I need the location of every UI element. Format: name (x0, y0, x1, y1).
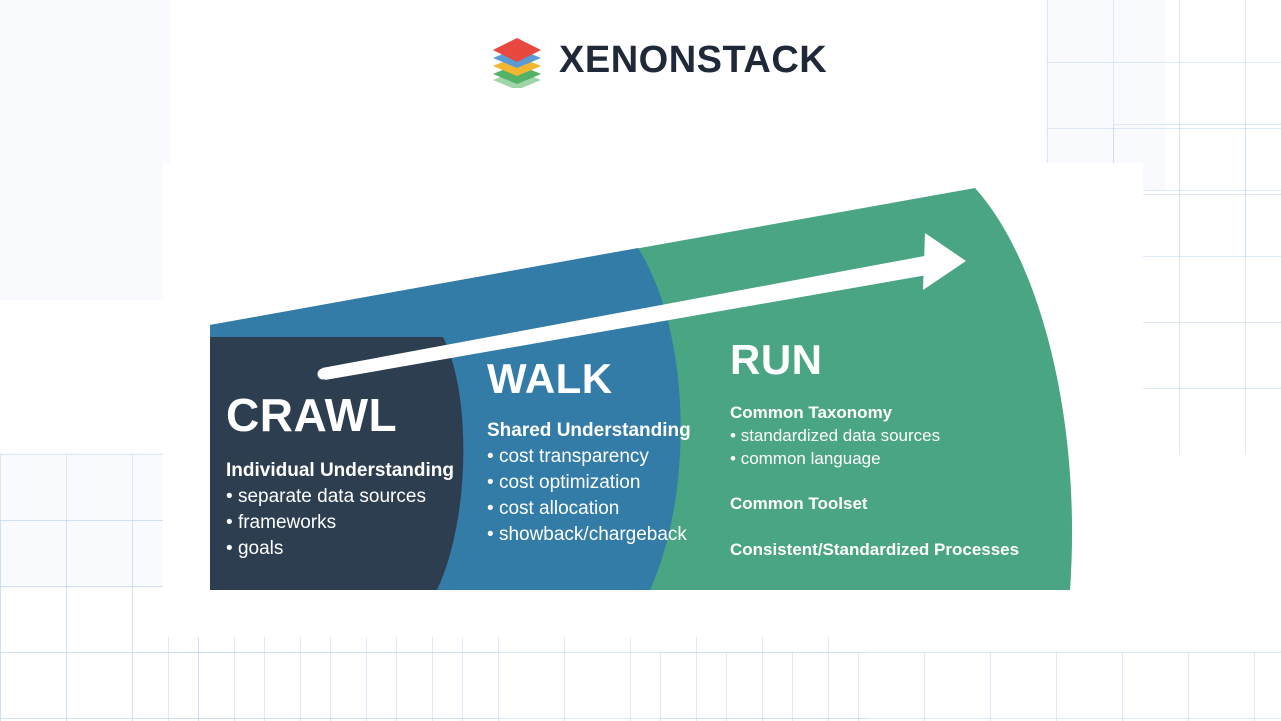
list-item: • frameworks (226, 512, 454, 534)
list-item: • standardized data sources (730, 426, 1019, 446)
list-item-label: standardized data sources (741, 426, 940, 445)
stage-run-heading-processes: Consistent/Standardized Processes (730, 540, 1019, 560)
list-item-label: common language (741, 449, 881, 468)
bullet-icon: • (226, 486, 238, 507)
stage-run: RUN Common Taxonomy • standardized data … (730, 339, 1019, 560)
stage-run-group-taxonomy: Common Taxonomy • standardized data sour… (730, 403, 1019, 469)
list-item-label: cost optimization (499, 472, 641, 493)
background-tint-block (1045, 0, 1165, 190)
stage-run-heading-toolset: Common Toolset (730, 494, 1019, 514)
list-item: • showback/chargeback (487, 524, 691, 546)
stage-crawl-title: CRAWL (226, 392, 454, 438)
list-item: • cost optimization (487, 472, 691, 494)
list-item: • goals (226, 538, 454, 560)
brand-name: XENONSTACK (559, 41, 827, 79)
bullet-icon: • (487, 498, 499, 519)
stage-walk: WALK Shared Understanding • cost transpa… (487, 358, 691, 546)
stage-run-group-processes: Consistent/Standardized Processes (730, 540, 1019, 560)
list-item-label: goals (238, 538, 283, 559)
stage-run-group-toolset: Common Toolset (730, 494, 1019, 514)
list-item-label: separate data sources (238, 486, 426, 507)
list-item: • cost transparency (487, 446, 691, 468)
stage-walk-list: • cost transparency • cost optimization … (487, 446, 691, 546)
list-item-label: frameworks (238, 512, 336, 533)
stage-run-heading-taxonomy: Common Taxonomy (730, 403, 1019, 423)
bullet-icon: • (487, 472, 499, 493)
page-root: XENONSTACK CRAWL Individual Understandin… (0, 0, 1281, 721)
background-tint-block (0, 0, 170, 300)
list-item: • cost allocation (487, 498, 691, 520)
stage-crawl-subheading: Individual Understanding (226, 460, 454, 482)
stage-walk-title: WALK (487, 358, 691, 400)
bullet-icon: • (730, 449, 741, 468)
grid-block (660, 652, 1281, 721)
bullet-icon: • (487, 524, 499, 545)
stage-crawl: CRAWL Individual Understanding • separat… (226, 392, 454, 560)
bullet-icon: • (487, 446, 499, 467)
list-item: • common language (730, 449, 1019, 469)
stage-walk-subheading: Shared Understanding (487, 420, 691, 442)
bullet-icon: • (730, 426, 741, 445)
brand-logo: XENONSTACK (489, 28, 799, 92)
bullet-icon: • (226, 538, 238, 559)
stage-crawl-list: • separate data sources • frameworks • g… (226, 486, 454, 560)
list-item-label: cost transparency (499, 446, 649, 467)
list-item-label: showback/chargeback (499, 524, 687, 545)
stage-run-list-taxonomy: • standardized data sources • common lan… (730, 426, 1019, 469)
stacked-layers-logo-icon (489, 32, 545, 88)
stage-run-title: RUN (730, 339, 1019, 381)
bullet-icon: • (226, 512, 238, 533)
list-item-label: cost allocation (499, 498, 619, 519)
list-item: • separate data sources (226, 486, 454, 508)
